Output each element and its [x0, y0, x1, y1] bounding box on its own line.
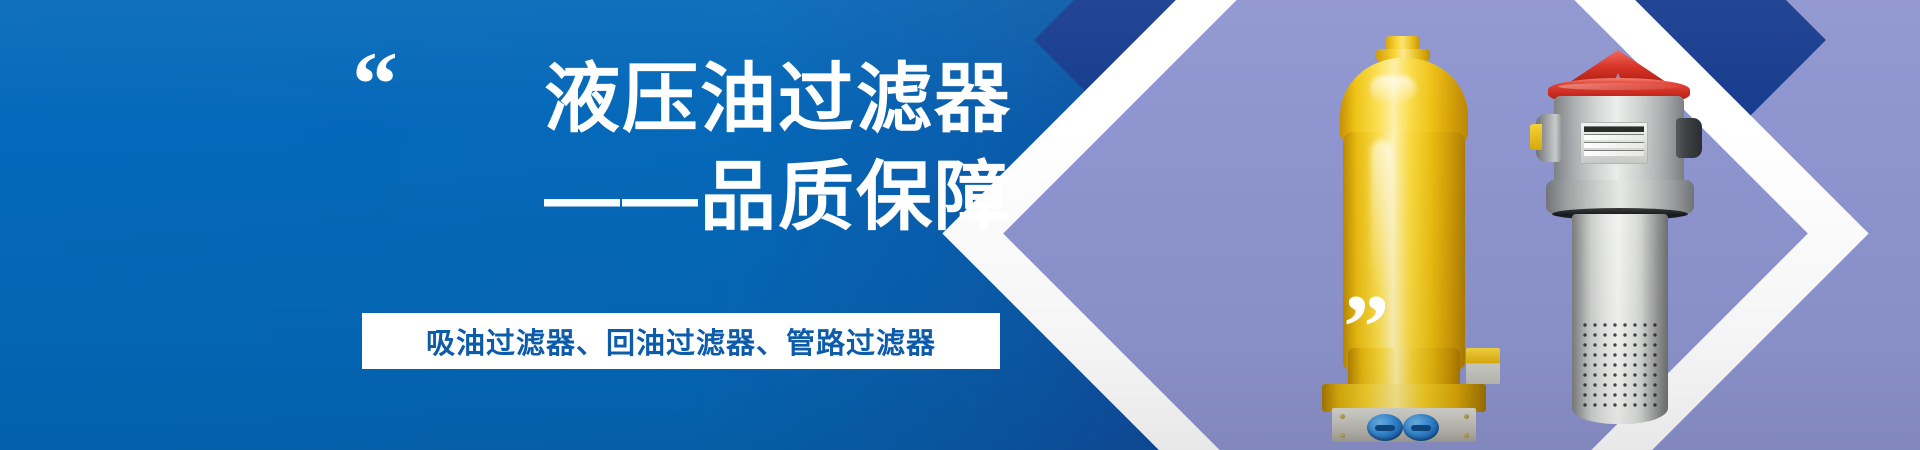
headline-line-1: 液压油过滤器 [352, 62, 1012, 138]
subtitle-text: 吸油过滤器、回油过滤器、管路过滤器 [426, 320, 936, 362]
promo-banner: “ 液压油过滤器 ——品质保障 „ 吸油过滤器、回油过滤器、管路过滤器 [0, 0, 1920, 450]
headline-block: “ 液压油过滤器 ——品质保障 „ [352, 38, 1072, 236]
subtitle-box: 吸油过滤器、回油过滤器、管路过滤器 [362, 313, 1000, 369]
headline-line-2: ——品质保障 [352, 160, 1012, 236]
quote-close-icon: „ [1344, 233, 1386, 325]
